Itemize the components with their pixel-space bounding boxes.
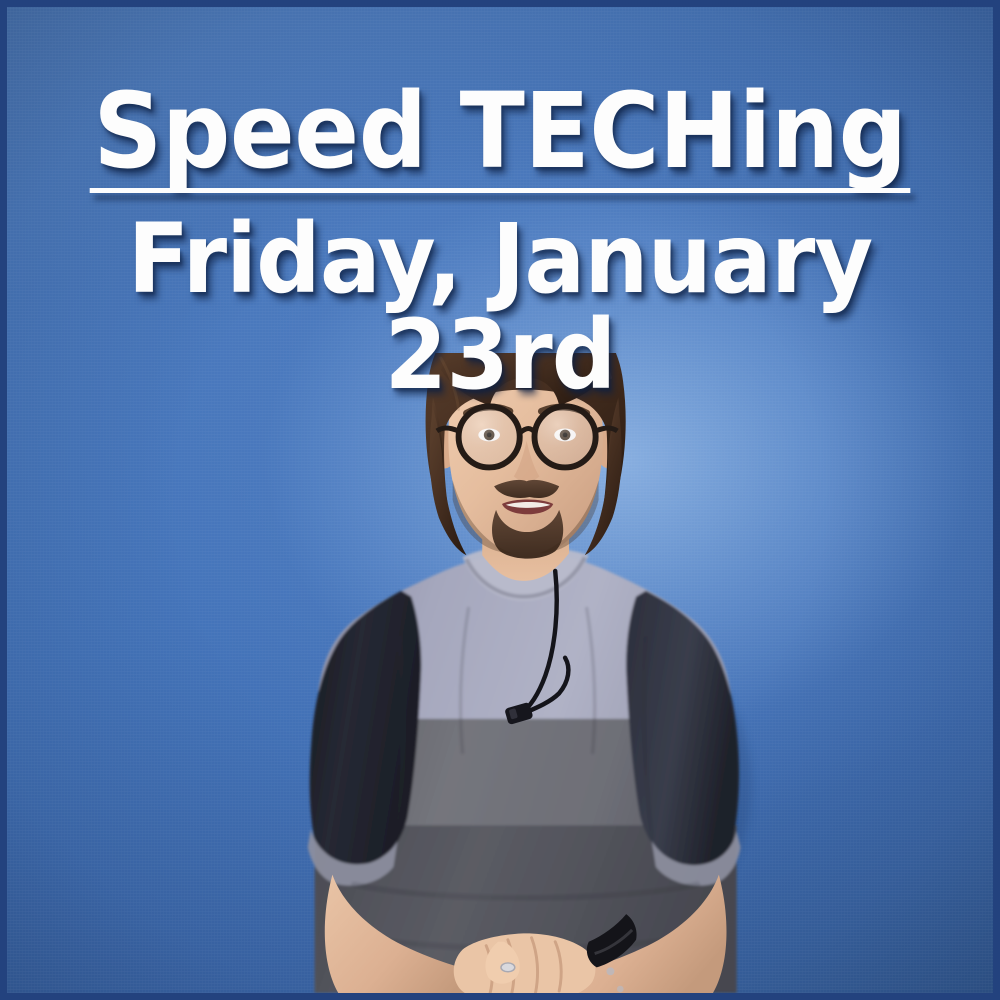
presenter-head [426,353,626,559]
presenter-torso [308,545,741,993]
presenter-figure [7,353,993,993]
title-card-slide: Speed TECHing Friday, January 23rd [0,0,1000,1000]
